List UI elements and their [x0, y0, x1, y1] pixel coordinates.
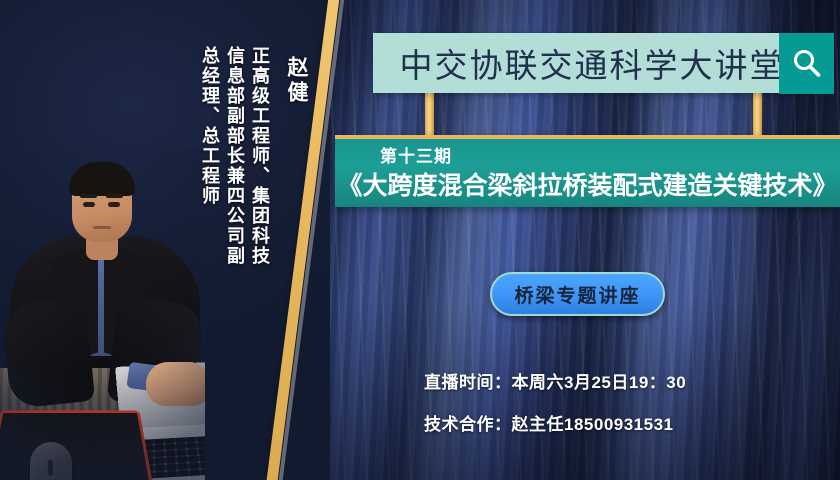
speaker-credential-line-3: 总经理、总工程师	[196, 46, 222, 206]
speaker-credential-line-1: 正高级工程师、集团科技	[246, 46, 272, 266]
speaker-figure	[0, 150, 205, 480]
mouse-pad	[0, 411, 154, 480]
arm-left	[1, 296, 96, 409]
lecture-title: 《大跨度混合梁斜拉桥装配式建造关键技术》	[335, 169, 840, 203]
livestream-poster: 赵健 正高级工程师、集团科技 信息部副部长兼四公司副 总经理、总工程师 中交协联…	[0, 0, 840, 480]
header-banner: 中交协联交通科学大讲堂	[373, 33, 803, 93]
topic-pill-label: 桥梁专题讲座	[514, 281, 640, 308]
topic-pill-button[interactable]: 桥梁专题讲座	[490, 272, 665, 316]
mouth	[93, 226, 111, 229]
eye-left	[83, 202, 95, 207]
clasped-hands	[146, 362, 205, 406]
computer-mouse	[30, 442, 72, 480]
hair	[69, 162, 135, 196]
broadcast-time-text: 直播时间：本周六3月25日19：30	[424, 368, 686, 393]
search-icon	[790, 47, 824, 81]
eyebrow-right	[106, 194, 123, 198]
speaker-photo	[0, 150, 205, 480]
title-banner: 第十三期 《大跨度混合梁斜拉桥装配式建造关键技术》	[335, 135, 840, 207]
eyebrow-left	[80, 194, 97, 198]
search-button[interactable]	[779, 33, 834, 94]
speaker-credential-line-2: 信息部副部长兼四公司副	[221, 46, 247, 266]
header-title: 中交协联交通科学大讲堂	[373, 39, 803, 87]
technical-contact-text: 技术合作：赵主任18500931531	[424, 410, 674, 435]
episode-label: 第十三期	[335, 145, 840, 169]
speaker-name: 赵健	[282, 56, 312, 106]
eye-right	[108, 202, 120, 207]
